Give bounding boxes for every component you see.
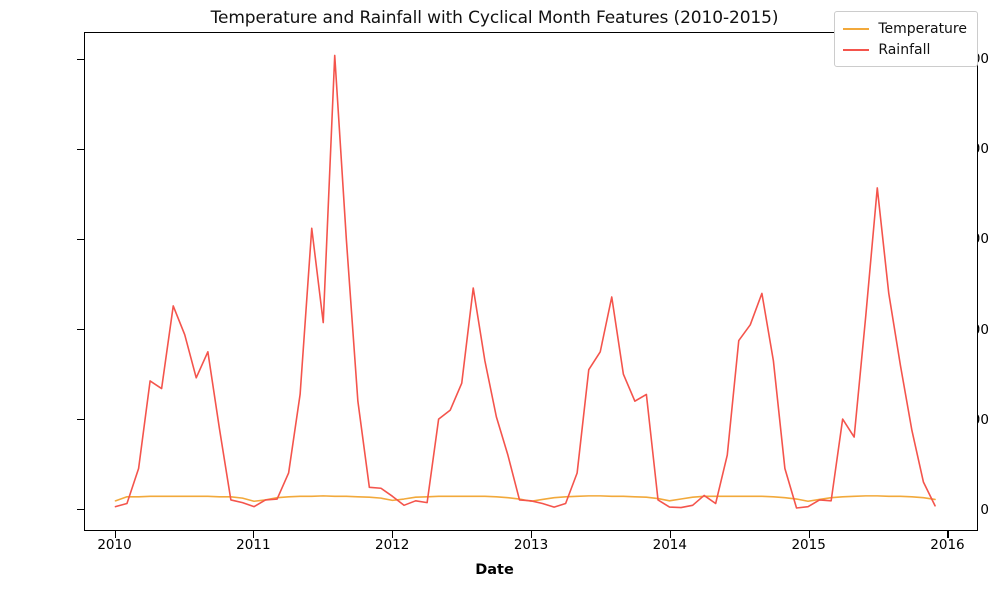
y-tick-mark (77, 419, 84, 420)
x-tick-mark (115, 531, 116, 538)
y-tick-mark (77, 59, 84, 60)
x-tick-label: 2014 (635, 537, 705, 553)
y-axis-label: Values (0, 227, 2, 281)
chart-legend: TemperatureRainfall (834, 11, 978, 67)
x-tick-mark (392, 531, 393, 538)
x-tick-label: 2011 (218, 537, 288, 553)
plot-area (84, 32, 978, 531)
x-tick-mark (947, 531, 948, 538)
x-tick-label: 2015 (774, 537, 844, 553)
x-tick-mark (531, 531, 532, 538)
y-tick-mark (77, 149, 84, 150)
x-tick-mark (670, 531, 671, 538)
series-line-rainfall (115, 55, 935, 508)
legend-swatch-icon (843, 49, 869, 51)
y-tick-mark (77, 329, 84, 330)
plot-lines (85, 33, 977, 530)
y-tick-mark (77, 509, 84, 510)
legend-swatch-icon (843, 28, 869, 30)
legend-label: Rainfall (878, 42, 930, 58)
legend-label: Temperature (878, 21, 967, 37)
x-axis-label: Date (0, 562, 989, 578)
legend-item-temperature[interactable]: Temperature (843, 18, 967, 39)
matplotlib-figure: Temperature and Rainfall with Cyclical M… (0, 0, 989, 590)
x-tick-label: 2010 (80, 537, 150, 553)
x-tick-label: 2012 (357, 537, 427, 553)
y-tick-mark (77, 239, 84, 240)
legend-item-rainfall[interactable]: Rainfall (843, 39, 967, 60)
x-tick-mark (809, 531, 810, 538)
x-tick-label: 2013 (496, 537, 566, 553)
x-tick-label: 2016 (912, 537, 982, 553)
x-tick-mark (253, 531, 254, 538)
